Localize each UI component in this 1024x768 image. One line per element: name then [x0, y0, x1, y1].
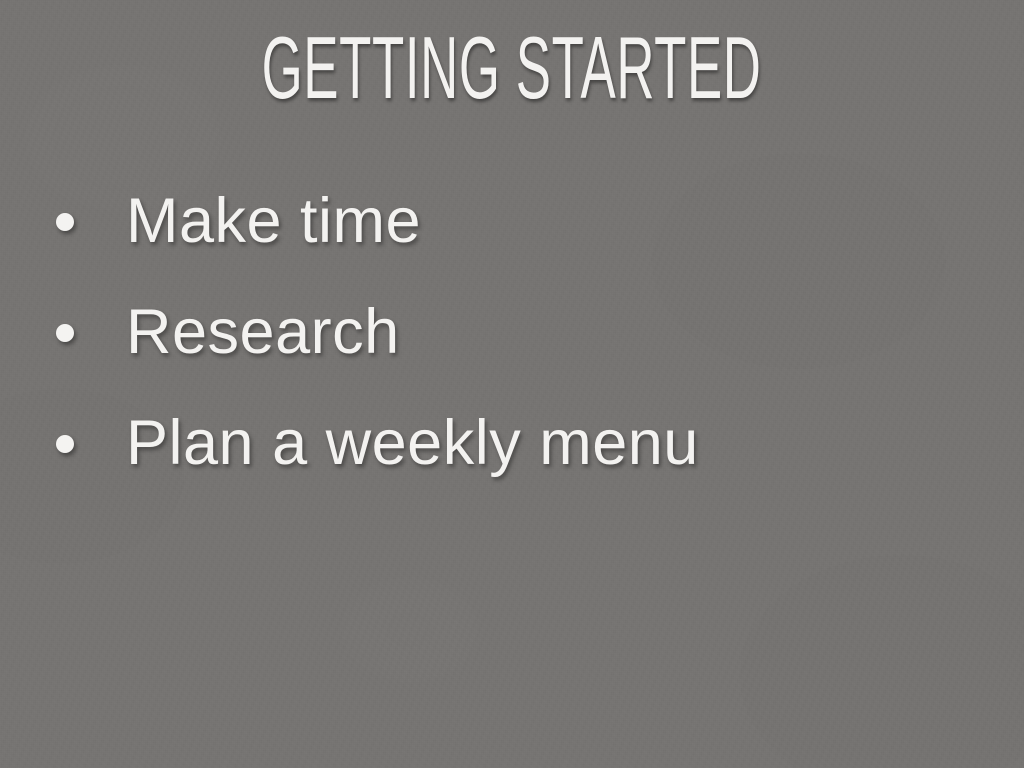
list-item: Make time [56, 166, 984, 277]
presentation-slide: GETTING STARTED Make time Research Plan … [0, 0, 1024, 768]
list-item: Research [56, 277, 984, 388]
bullet-item-label: Plan a weekly menu [126, 412, 699, 475]
slide-title: GETTING STARTED [262, 24, 762, 112]
bullet-dot-icon [56, 213, 74, 231]
bullet-dot-icon [56, 324, 74, 342]
bullet-dot-icon [56, 435, 74, 453]
bullet-item-label: Research [126, 301, 400, 364]
slide-title-container: GETTING STARTED [0, 24, 1024, 112]
bullet-item-label: Make time [126, 190, 421, 253]
list-item: Plan a weekly menu [56, 388, 984, 499]
bullet-list: Make time Research Plan a weekly menu [56, 166, 984, 499]
